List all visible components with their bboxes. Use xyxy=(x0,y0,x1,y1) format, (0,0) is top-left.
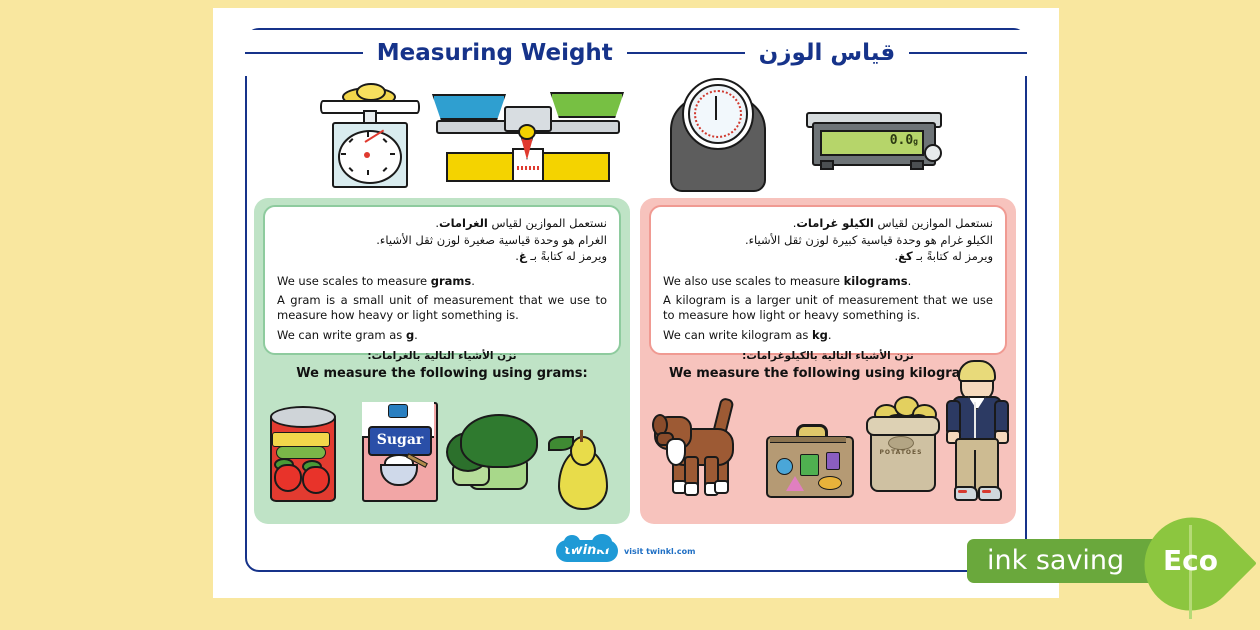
poster-root: Measuring Weight قياس الوزن xyxy=(0,0,1260,630)
pear-icon xyxy=(554,430,614,512)
sugar-label: Sugar xyxy=(368,426,432,456)
kilograms-items: POTATOES xyxy=(640,198,1016,524)
dog-icon xyxy=(654,394,746,502)
canned-strawberries-icon xyxy=(270,406,340,506)
scales-row: 0.0g xyxy=(250,78,1022,196)
eco-label: Eco xyxy=(1163,539,1218,583)
twinkl-visit-link[interactable]: visit twinkl.com xyxy=(624,547,695,556)
broccoli-icon xyxy=(446,414,546,500)
suitcase-icon xyxy=(766,424,856,500)
boy-icon xyxy=(946,358,1012,504)
title-rule-right xyxy=(909,52,1027,54)
eco-watermark: ink saving Eco xyxy=(967,529,1260,591)
digital-scale-icon: 0.0g xyxy=(806,86,946,182)
eco-ink-saving-label: ink saving xyxy=(987,539,1124,583)
grams-items: Sugar xyxy=(254,198,630,524)
title-rule-mid xyxy=(627,52,745,54)
grams-panel: نستعمل الموازين لقياس الغرامات. الغرام ه… xyxy=(254,198,630,524)
balance-scale-icon xyxy=(432,80,628,188)
title-bar: Measuring Weight قياس الوزن xyxy=(245,30,1027,76)
bathroom-scale-icon xyxy=(668,78,768,192)
digital-scale-reading: 0.0g xyxy=(890,133,918,148)
twinkl-footer[interactable]: twinkl visit twinkl.com xyxy=(556,538,706,564)
potato-sack-icon: POTATOES xyxy=(866,392,946,504)
twinkl-logo[interactable]: twinkl xyxy=(556,540,618,562)
kitchen-scale-icon xyxy=(310,78,430,190)
sugar-bag-icon: Sugar xyxy=(362,402,438,502)
page-title-ar: قياس الوزن xyxy=(745,40,910,66)
title-rule-left xyxy=(245,52,363,54)
kilograms-panel: نستعمل الموازين لقياس الكيلو غرامات. الك… xyxy=(640,198,1016,524)
potato-sack-label: POTATOES xyxy=(878,446,924,460)
page-title-en: Measuring Weight xyxy=(363,40,627,66)
